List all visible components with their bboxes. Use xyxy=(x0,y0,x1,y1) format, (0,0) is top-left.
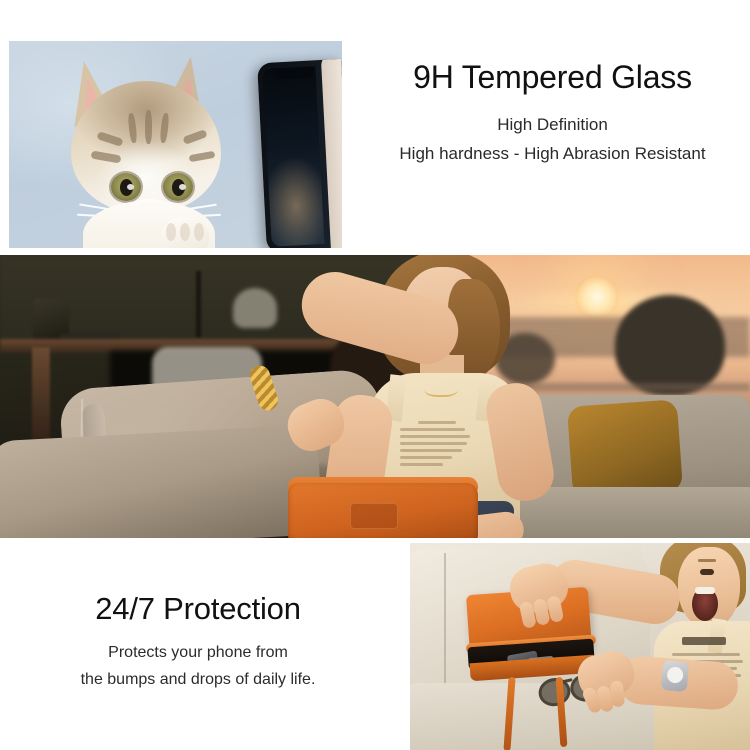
kitten-eye-glint xyxy=(179,184,186,190)
finger xyxy=(610,680,626,707)
kitten-pupil xyxy=(120,179,133,196)
tree xyxy=(615,295,725,395)
shelf-leg xyxy=(32,347,50,447)
kitten-illustration xyxy=(57,55,247,248)
handbag-logo-tag xyxy=(350,503,398,529)
kitten-toe xyxy=(194,223,204,241)
kitten-stripe xyxy=(159,113,169,144)
product-infographic-page: 9H Tempered Glass High Definition High h… xyxy=(0,0,750,750)
kitten-right-eye xyxy=(163,173,193,201)
bag-dropping-contents-photo xyxy=(410,543,750,750)
kitten-toe xyxy=(180,223,190,241)
kitten-stripe xyxy=(96,131,123,147)
bottom-text-block: 24/7 Protection Protects your phone from… xyxy=(18,592,378,689)
smartphone-in-kitten-photo xyxy=(257,59,342,248)
top-subline-2: High hardness - High Abrasion Resistant xyxy=(355,144,750,164)
kitten-stripe xyxy=(189,151,216,162)
watch-face xyxy=(666,666,684,684)
woman-eyebrow xyxy=(698,559,716,562)
wristwatch xyxy=(661,660,690,693)
kitten-stripe xyxy=(91,150,122,163)
kitten-pupil xyxy=(172,179,185,196)
kitten-eye-glint xyxy=(127,184,134,190)
kitten-stripe xyxy=(127,113,137,144)
woman-eye xyxy=(700,569,714,575)
top-headline: 9H Tempered Glass xyxy=(355,60,750,95)
kitten-left-eye xyxy=(111,173,141,201)
kitten-toe xyxy=(166,223,176,241)
kitten-touching-phone-photo xyxy=(9,41,342,248)
top-subline-1: High Definition xyxy=(355,115,750,135)
kitten-head xyxy=(71,81,221,213)
kitten-stripe xyxy=(145,110,152,144)
shirt-print-title xyxy=(682,637,726,645)
woman-teeth xyxy=(695,587,715,594)
woman-necklace xyxy=(424,379,458,397)
lamp-shade xyxy=(233,288,277,328)
shirt-print-block xyxy=(400,421,474,483)
bottom-subline-2: the bumps and drops of daily life. xyxy=(18,671,378,689)
woman-placing-phone-in-bag-photo xyxy=(0,255,750,538)
phone-screen xyxy=(262,66,324,247)
bottom-headline: 24/7 Protection xyxy=(18,592,378,626)
top-text-block: 9H Tempered Glass High Definition High h… xyxy=(355,60,750,164)
phone-body xyxy=(321,59,342,248)
kitten-paw xyxy=(161,217,209,248)
kitten-stripe xyxy=(182,129,207,145)
sofa-armrest xyxy=(0,424,323,538)
bottom-subline-1: Protects your phone from xyxy=(18,644,378,662)
lamp-stand xyxy=(196,271,201,337)
top-section: 9H Tempered Glass High Definition High h… xyxy=(0,0,750,255)
